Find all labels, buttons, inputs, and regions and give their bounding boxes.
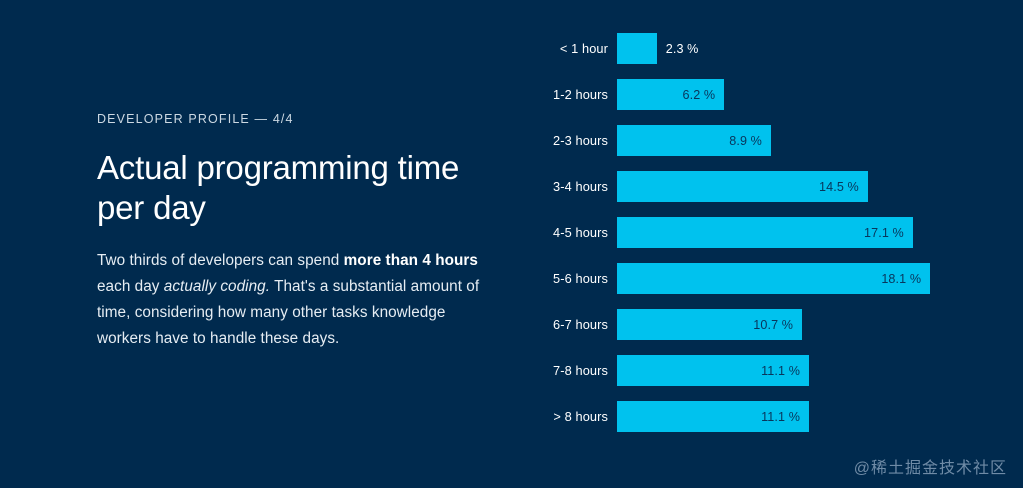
bar-value-label: 11.1 % bbox=[761, 364, 800, 378]
bar: 10.7 % bbox=[617, 309, 802, 340]
bar-value-label: 10.7 % bbox=[753, 318, 793, 332]
body-text-part-1: Two thirds of developers can spend bbox=[97, 252, 344, 269]
bar-value-label: 11.1 % bbox=[761, 410, 800, 424]
bar-value-label: 17.1 % bbox=[864, 226, 904, 240]
bar-value-label: 8.9 % bbox=[729, 134, 762, 148]
bar-row: 3-4 hours14.5 % bbox=[540, 171, 990, 202]
bar-row: 5-6 hours18.1 % bbox=[540, 263, 990, 294]
bar-row: > 8 hours11.1 % bbox=[540, 401, 990, 432]
bar-track: 11.1 % bbox=[617, 401, 990, 432]
bar bbox=[617, 33, 657, 64]
bar-category-label: 3-4 hours bbox=[540, 179, 617, 194]
bar-track: 2.3 % bbox=[617, 33, 990, 64]
bar-track: 11.1 % bbox=[617, 355, 990, 386]
bar-track: 18.1 % bbox=[617, 263, 990, 294]
bar-track: 10.7 % bbox=[617, 309, 990, 340]
bar-row: 6-7 hours10.7 % bbox=[540, 309, 990, 340]
bar-value-label: 18.1 % bbox=[881, 272, 921, 286]
bar-category-label: 4-5 hours bbox=[540, 225, 617, 240]
body-text-bold-1: more than 4 hours bbox=[344, 252, 478, 269]
watermark: @稀土掘金技术社区 bbox=[854, 454, 1007, 478]
body-paragraph: Two thirds of developers can spend more … bbox=[97, 248, 495, 352]
bar-value-label: 2.3 % bbox=[666, 42, 699, 56]
bar: 6.2 % bbox=[617, 79, 724, 110]
bar: 11.1 % bbox=[617, 355, 809, 386]
bar-category-label: 1-2 hours bbox=[540, 87, 617, 102]
eyebrow-label: DEVELOPER PROFILE — 4/4 bbox=[97, 112, 497, 126]
bar-row: 7-8 hours11.1 % bbox=[540, 355, 990, 386]
body-text-part-2: each day bbox=[97, 278, 164, 295]
text-column: DEVELOPER PROFILE — 4/4 Actual programmi… bbox=[97, 112, 497, 352]
bar-row: < 1 hour2.3 % bbox=[540, 33, 990, 64]
bar-track: 6.2 % bbox=[617, 79, 990, 110]
bar: 17.1 % bbox=[617, 217, 913, 248]
bar-category-label: < 1 hour bbox=[540, 41, 617, 56]
bar: 11.1 % bbox=[617, 401, 809, 432]
bar-row: 1-2 hours6.2 % bbox=[540, 79, 990, 110]
bar-track: 8.9 % bbox=[617, 125, 990, 156]
page-title: Actual programming time per day bbox=[97, 148, 492, 228]
bar: 14.5 % bbox=[617, 171, 868, 202]
bar-chart: < 1 hour2.3 %1-2 hours6.2 %2-3 hours8.9 … bbox=[540, 33, 990, 432]
slide: DEVELOPER PROFILE — 4/4 Actual programmi… bbox=[0, 0, 1023, 488]
bar-category-label: > 8 hours bbox=[540, 409, 617, 424]
bar: 8.9 % bbox=[617, 125, 771, 156]
bar-track: 14.5 % bbox=[617, 171, 990, 202]
bar-category-label: 7-8 hours bbox=[540, 363, 617, 378]
bar: 18.1 % bbox=[617, 263, 930, 294]
bar-category-label: 2-3 hours bbox=[540, 133, 617, 148]
bar-row: 2-3 hours8.9 % bbox=[540, 125, 990, 156]
bar-track: 17.1 % bbox=[617, 217, 990, 248]
bar-category-label: 5-6 hours bbox=[540, 271, 617, 286]
bar-value-label: 14.5 % bbox=[819, 180, 859, 194]
bar-row: 4-5 hours17.1 % bbox=[540, 217, 990, 248]
bar-category-label: 6-7 hours bbox=[540, 317, 617, 332]
body-text-italic-1: actually coding. bbox=[164, 278, 270, 295]
bar-value-label: 6.2 % bbox=[683, 88, 716, 102]
